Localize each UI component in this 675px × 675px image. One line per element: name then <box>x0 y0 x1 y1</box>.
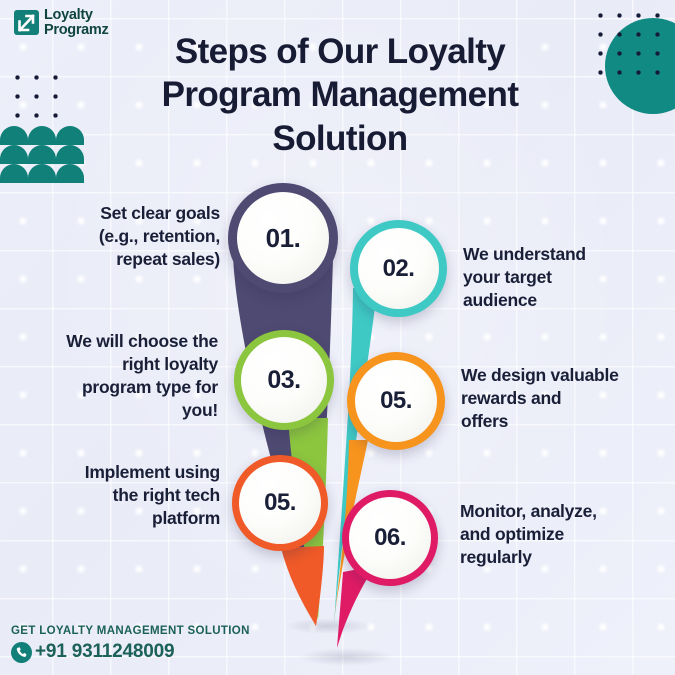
step-caption-6: Monitor, analyze, and optimize regularly <box>460 500 665 569</box>
step-caption-6-line1: Monitor, analyze, <box>460 501 597 521</box>
step-pin-6-number: 06. <box>374 524 406 552</box>
footer-phone-row[interactable]: +91 9311248009 <box>11 641 250 663</box>
phone-icon <box>11 642 32 663</box>
footer-phone-number: +91 9311248009 <box>35 641 174 663</box>
step-pin-6-bulb[interactable]: 06. <box>342 490 438 586</box>
footer: GET LOYALTY MANAGEMENT SOLUTION +91 9311… <box>11 625 250 663</box>
step-caption-6-line2: and optimize <box>460 524 564 544</box>
step-pin-6-tail <box>0 0 675 675</box>
footer-cta-text: GET LOYALTY MANAGEMENT SOLUTION <box>11 625 250 637</box>
infographic-canvas: Loyalty Programz Steps of Our Loyalty Pr… <box>0 0 675 675</box>
step-pin-6[interactable]: 06. <box>0 0 675 675</box>
step-caption-6-line3: regularly <box>460 547 532 567</box>
